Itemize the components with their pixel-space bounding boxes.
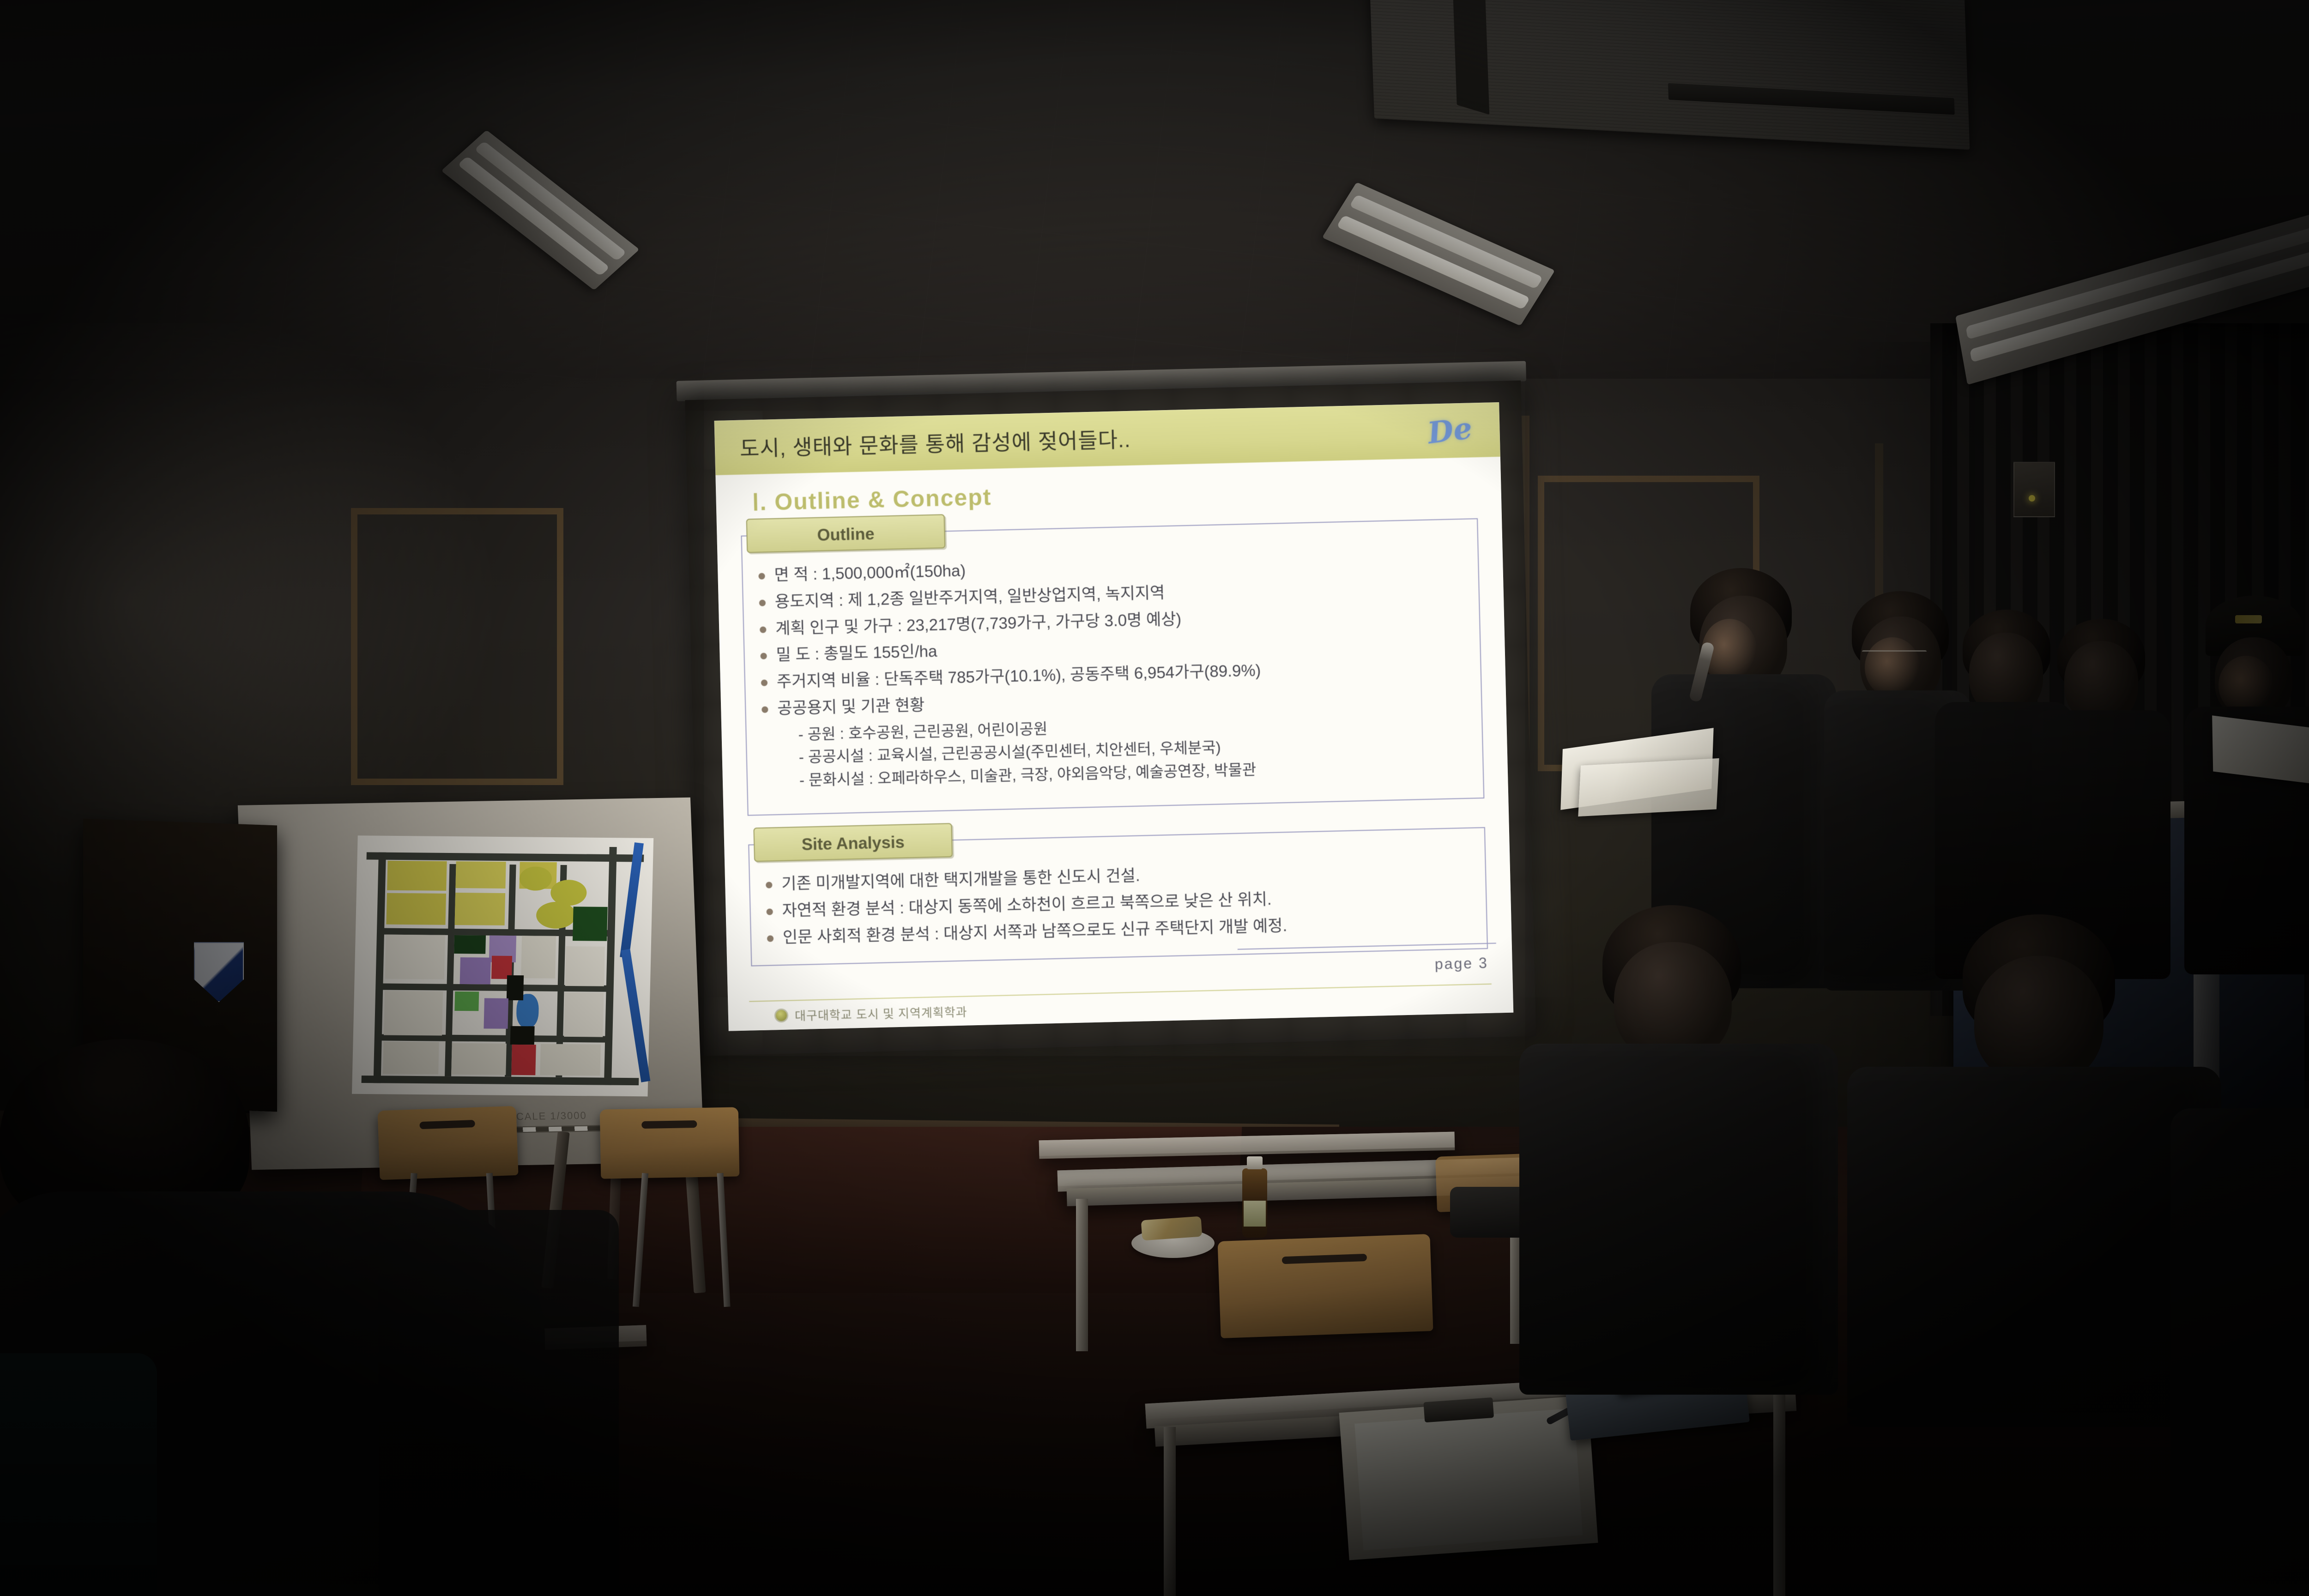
map-parcel-center-block [507, 975, 524, 1000]
ac-vent-louvre [1452, 0, 1490, 115]
soda-bottle [1242, 1168, 1267, 1238]
chair-handle-slot [641, 1120, 697, 1129]
presentation-slide: 도시, 생태와 문화를 통해 감성에 젖어들다.. De Ⅰ. Outline … [714, 402, 1514, 1031]
desk-leg [1773, 1390, 1785, 1596]
map-parcel-commercial [484, 998, 508, 1028]
map-parcel-public [385, 935, 445, 979]
audience-head [1974, 956, 2103, 1085]
bullet-dot-icon [767, 908, 773, 915]
slide-body: Ⅰ. Outline & Concept Outline 면 적 : 1,500… [715, 457, 1512, 1002]
bullet-dot-icon [761, 680, 768, 686]
wall-switch-indicator-led [2029, 495, 2035, 502]
bullet-dot-icon [766, 882, 772, 889]
classroom-photo-scene: 도시, 생태와 문화를 통해 감성에 젖어들다.. De Ⅰ. Outline … [0, 0, 2309, 1596]
bullet-dot-icon [767, 935, 774, 942]
map-parcel-residential [455, 861, 506, 889]
site-analysis-tab-label: Site Analysis [753, 823, 953, 862]
bullet-dot-icon [762, 706, 768, 713]
bullet-dot-icon [758, 573, 765, 580]
map-parcel-greenbelt [573, 907, 608, 941]
chair-handle-slot [1282, 1254, 1367, 1264]
map-parcel-greenbelt [454, 935, 486, 954]
map-parcel-public [384, 991, 443, 1036]
projection-screen: 도시, 생태와 문화를 통해 감성에 젖어들다.. De Ⅰ. Outline … [685, 381, 1536, 1056]
wall-door-frame-left [351, 508, 563, 785]
audience-torso [1847, 1067, 2221, 1427]
eyeglasses-icon [1862, 650, 1927, 657]
clipboard-paper [1355, 1408, 1583, 1550]
map-parcel-residential [386, 893, 446, 925]
outline-bullet-text: 공공용지 및 기관 현황 [777, 693, 925, 720]
foreground-audience-far-left [0, 1353, 157, 1596]
audience-torso [1519, 1044, 1838, 1395]
desk-leg [1164, 1427, 1176, 1596]
wall-switch-panel[interactable] [2013, 462, 2055, 517]
screen-surface: 도시, 생태와 문화를 통해 감성에 젖어들다.. De Ⅰ. Outline … [714, 402, 1514, 1031]
bullet-dot-icon [760, 653, 767, 659]
desk-leg [1076, 1199, 1088, 1351]
cap-logo-icon [2235, 615, 2262, 623]
map-parcel-residential [387, 861, 447, 891]
map-parcel-commercial [460, 957, 491, 985]
audience-torso [0, 1353, 157, 1596]
slide-header-title: 도시, 생태와 문화를 통해 감성에 젖어들다.. [739, 423, 1131, 463]
outline-bullet-text: 밀 도 : 총밀도 155인/ha [776, 640, 937, 667]
map-parcel-public [521, 936, 556, 979]
outline-box: 면 적 : 1,500,000㎡(150ha) 용도지역 : 제 1,2종 일반… [741, 518, 1484, 816]
de-logo-icon: De [1426, 411, 1474, 451]
student-face-highlight [2218, 656, 2274, 715]
map-road-vertical [604, 847, 617, 1085]
chair-back[interactable] [600, 1107, 740, 1179]
site-analysis-panel: Site Analysis 기존 미개발지역에 대한 택지개발을 통한 신도시 … [748, 810, 1488, 966]
slide-footer-text: 대구대학교 도시 및 지역계획학과 [795, 1003, 967, 1024]
map-parcel-public [565, 946, 605, 986]
bullet-dot-icon [759, 599, 766, 606]
chair-back[interactable] [1217, 1234, 1433, 1338]
presenter-script-paper [1578, 758, 1719, 816]
outline-bullet-text: 면 적 : 1,500,000㎡(150ha) [774, 559, 966, 587]
snack-items [1141, 1216, 1203, 1241]
clipboard-with-papers[interactable] [1339, 1396, 1598, 1560]
audience-torso [379, 1210, 619, 1596]
map-parcel-greenfield [454, 991, 479, 1011]
audience-torso [2170, 1108, 2309, 1596]
page-number: page 3 [1434, 955, 1488, 973]
map-parcel-park [536, 902, 576, 929]
seated-audience-center [1519, 905, 1843, 1390]
map-parcel-residential [455, 893, 506, 925]
map-parcel-public [564, 992, 604, 1037]
student-face-highlight [1865, 637, 1920, 697]
footer-emblem-icon [774, 1009, 789, 1023]
bottle-cap [1247, 1156, 1263, 1169]
site-analysis-bullet-list: 기존 미개발지역에 대한 택지개발을 통한 신도시 건설. 자연적 환경 분석 … [766, 856, 1471, 950]
outline-tab-label: Outline [746, 514, 946, 553]
outline-bullet-list: 면 적 : 1,500,000㎡(150ha) 용도지역 : 제 1,2종 일반… [758, 547, 1466, 721]
seated-audience-far-right [2170, 1108, 2309, 1596]
seated-audience-mid-left [379, 1210, 619, 1596]
seated-audience-right [1847, 914, 2226, 1422]
bottle-label [1244, 1201, 1266, 1227]
map-river [621, 949, 651, 1082]
outline-panel: Outline 면 적 : 1,500,000㎡(150ha) 용도지역 : 제… [741, 502, 1485, 816]
bullet-dot-icon [760, 626, 766, 633]
